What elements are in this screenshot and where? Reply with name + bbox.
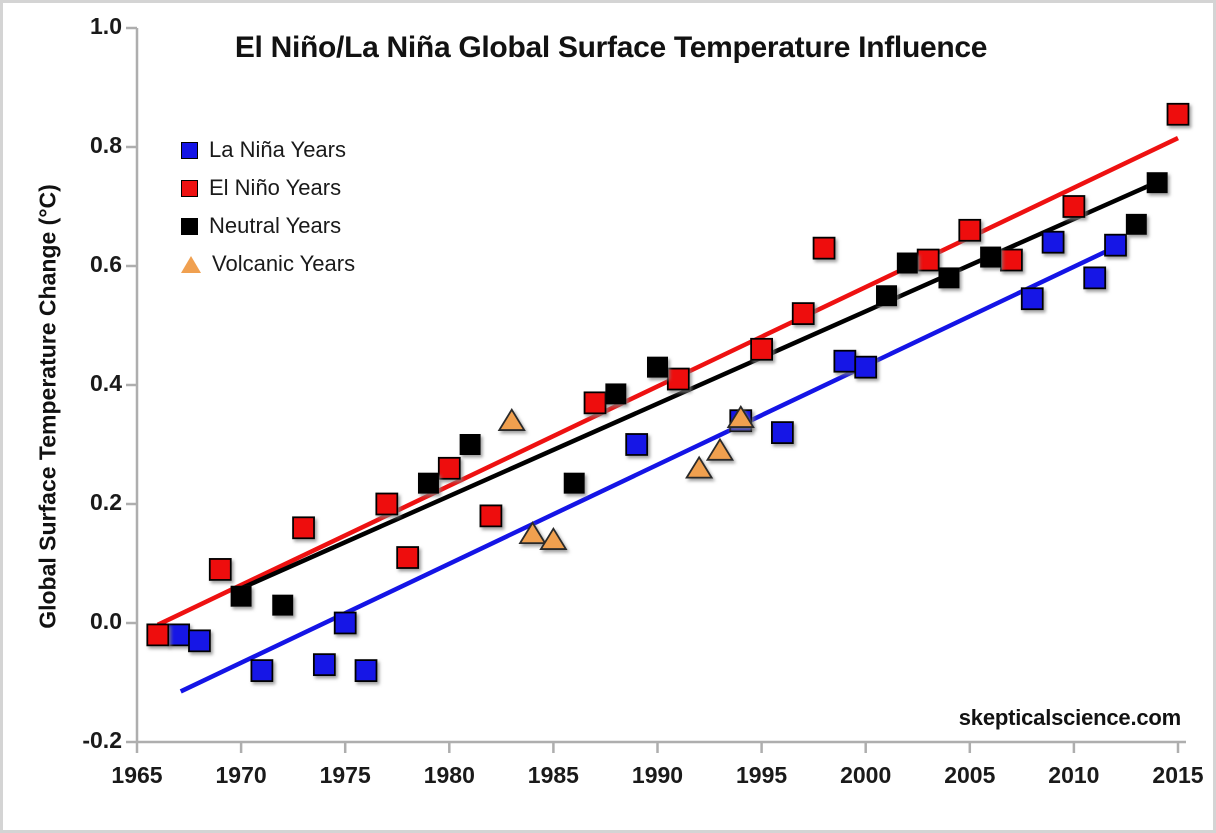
data-point-square (460, 434, 481, 455)
chart-legend: La Niña YearsEl Niño YearsNeutral YearsV… (181, 131, 355, 283)
data-point-square (439, 458, 460, 479)
data-point-square (1022, 288, 1043, 309)
data-point-square (918, 250, 939, 271)
data-point-square (231, 586, 252, 607)
legend-item-neutral-years[interactable]: Neutral Years (181, 207, 355, 245)
trendline-neutral-trend (233, 182, 1157, 592)
data-point-square (1168, 104, 1189, 125)
legend-item-label: Neutral Years (209, 213, 341, 239)
data-point-square (793, 303, 814, 324)
chart-page: El Niño/La Niña Global Surface Temperatu… (0, 0, 1216, 833)
trendline-la-ni-a-trend (181, 244, 1122, 691)
data-point-square (605, 383, 626, 404)
data-point-square (376, 494, 397, 515)
legend-item-la-ni-a-years[interactable]: La Niña Years (181, 131, 355, 169)
legend-square-icon (181, 142, 198, 159)
legend-item-label: El Niño Years (209, 175, 341, 201)
data-point-square (876, 285, 897, 306)
data-point-square (668, 369, 689, 390)
data-point-square (1147, 172, 1168, 193)
data-point-square (626, 434, 647, 455)
data-point-square (959, 220, 980, 241)
legend-item-volcanic-years[interactable]: Volcanic Years (181, 245, 355, 283)
legend-item-label: Volcanic Years (212, 251, 355, 277)
legend-triangle-icon (181, 256, 201, 273)
data-point-square (814, 238, 835, 259)
data-point-square (938, 267, 959, 288)
data-point-square (564, 473, 585, 494)
data-point-square (335, 613, 356, 634)
data-point-square (168, 624, 189, 645)
data-point-square (293, 517, 314, 538)
data-point-square (210, 559, 231, 580)
data-point-square (585, 392, 606, 413)
legend-square-icon (181, 180, 198, 197)
data-point-triangle (707, 439, 732, 459)
data-point-square (272, 595, 293, 616)
data-point-square (1084, 267, 1105, 288)
data-point-square (1105, 235, 1126, 256)
legend-item-label: La Niña Years (209, 137, 346, 163)
data-point-triangle (541, 529, 566, 549)
data-point-square (751, 339, 772, 360)
data-point-square (897, 253, 918, 274)
data-point-square (647, 357, 668, 378)
data-point-square (1001, 250, 1022, 271)
data-point-square (480, 505, 501, 526)
data-point-square (1063, 196, 1084, 217)
data-point-square (1043, 232, 1064, 253)
data-point-square (189, 630, 210, 651)
data-point-square (356, 660, 377, 681)
data-point-square (834, 351, 855, 372)
data-point-square (980, 247, 1001, 268)
watermark-label: skepticalscience.com (959, 705, 1181, 731)
data-point-square (147, 624, 168, 645)
data-point-square (397, 547, 418, 568)
data-point-square (418, 473, 439, 494)
legend-square-icon (181, 218, 198, 235)
data-point-square (855, 357, 876, 378)
data-point-square (772, 422, 793, 443)
legend-item-el-ni-o-years[interactable]: El Niño Years (181, 169, 355, 207)
data-point-square (314, 654, 335, 675)
data-point-triangle (499, 410, 524, 430)
data-point-square (251, 660, 272, 681)
series-la-ni-a-years (168, 232, 1126, 681)
data-point-square (1126, 214, 1147, 235)
